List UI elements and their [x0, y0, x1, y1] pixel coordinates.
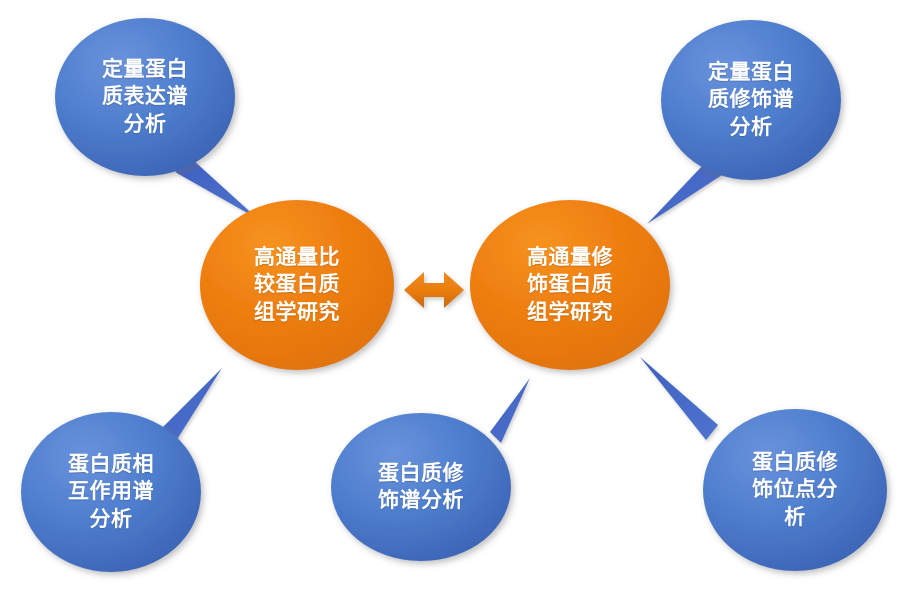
- double-headed-arrow-shape: [404, 272, 464, 308]
- bubble-center-right[interactable]: [470, 200, 670, 370]
- tail-top-left: [175, 160, 258, 219]
- tail-top-right: [647, 163, 722, 224]
- bubble-bottom-right[interactable]: [703, 409, 887, 571]
- bubble-bottom-center[interactable]: [331, 413, 511, 561]
- bubble-top-right[interactable]: [661, 20, 841, 180]
- diagram-svg: [0, 0, 900, 599]
- double-headed-arrow: [404, 272, 464, 308]
- bubble-bottom-left[interactable]: [21, 412, 201, 572]
- bubble-top-left[interactable]: [55, 18, 235, 176]
- bubble-center-left[interactable]: [200, 200, 394, 370]
- tail-bottom-left: [160, 368, 222, 441]
- tail-bottom-center: [490, 378, 530, 443]
- diagram-canvas: 定量蛋白 质表达谱 分析 定量蛋白 质修饰谱 分析 高通量比 较蛋白质 组学研究…: [0, 0, 900, 599]
- tail-bottom-right: [640, 357, 718, 440]
